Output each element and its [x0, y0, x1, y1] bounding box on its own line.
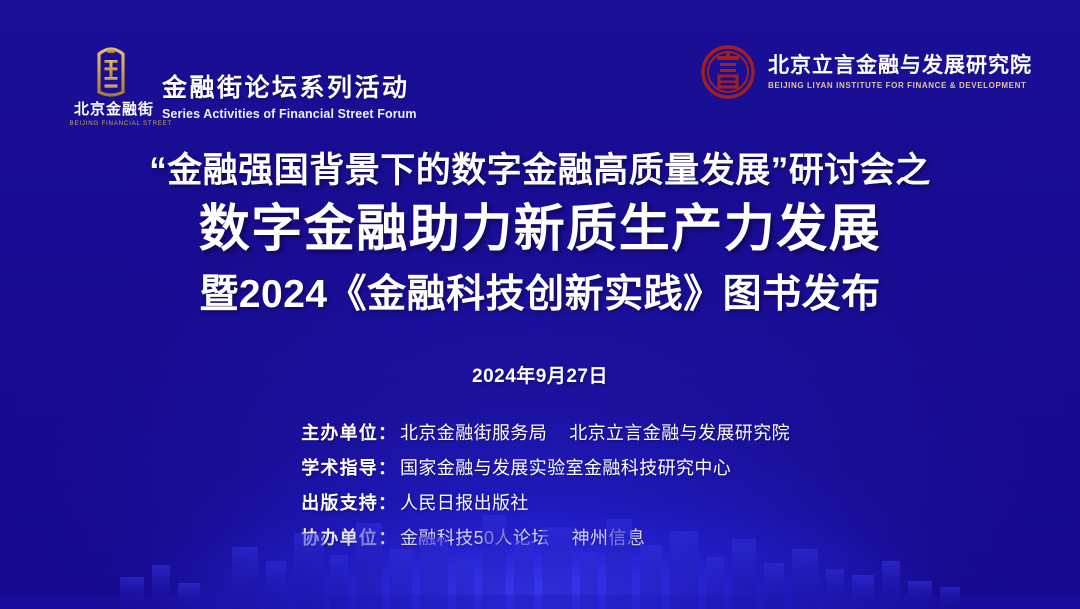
credit-entity: 人民日报出版社	[400, 493, 529, 513]
credit-colon: ：	[378, 454, 396, 480]
credit-label: 学术指导	[270, 454, 378, 480]
liyan-name-cn: 北京立言金融与发展研究院	[768, 53, 1032, 78]
event-poster: 北京金融街 BEIJING FINANCIAL STREET 金融街论坛系列活动…	[0, 0, 1080, 609]
title-line-1: “金融强国背景下的数字金融高质量发展”研讨会之	[0, 150, 1080, 191]
beijing-financial-street-gate-seal-icon	[85, 42, 137, 100]
credit-label: 出版支持	[270, 489, 378, 515]
poster-title-block: “金融强国背景下的数字金融高质量发展”研讨会之 数字金融助力新质生产力发展 暨2…	[0, 150, 1080, 318]
bfs-name-cn: 北京金融街	[74, 102, 148, 119]
poster-header: 北京金融街 BEIJING FINANCIAL STREET 金融街论坛系列活动…	[0, 0, 1080, 140]
forum-title-en: Series Activities of Financial Street Fo…	[162, 107, 417, 121]
credit-value: 国家金融与发展实验室金融科技研究中心	[396, 454, 810, 480]
title-line-2-main: 数字金融助力新质生产力发展	[0, 199, 1080, 261]
credit-label: 主办单位	[270, 419, 378, 445]
bfs-name-en: BEIJING FINANCIAL STREET	[70, 121, 153, 128]
credit-entity: 国家金融与发展实验室金融科技研究中心	[400, 458, 731, 478]
liyan-institute-round-seal-icon	[700, 44, 756, 100]
credit-row: 主办单位：北京金融街服务局北京立言金融与发展研究院	[270, 419, 810, 445]
credit-value: 北京金融街服务局北京立言金融与发展研究院	[396, 419, 810, 445]
credit-colon: ：	[378, 524, 396, 550]
credit-entity: 北京金融街服务局	[400, 423, 547, 443]
credit-value: 金融科技50人论坛神州信息	[396, 524, 810, 550]
beijing-financial-street-logo: 北京金融街 BEIJING FINANCIAL STREET	[74, 42, 148, 127]
credit-entity: 神州信息	[572, 528, 646, 548]
organizer-credits: 主办单位：北京金融街服务局北京立言金融与发展研究院学术指导：国家金融与发展实验室…	[0, 419, 1080, 550]
credit-value: 人民日报出版社	[396, 489, 810, 515]
credit-colon: ：	[378, 419, 396, 445]
liyan-name-block: 北京立言金融与发展研究院 BEIJING LIYAN INSTITUTE FOR…	[768, 53, 1032, 90]
event-date: 2024年9月27日	[0, 361, 1080, 388]
title-line-3-book-release: 暨2024《金融科技创新实践》图书发布	[0, 272, 1080, 319]
credit-colon: ：	[378, 489, 396, 515]
forum-title-block: 金融街论坛系列活动 Series Activities of Financial…	[162, 75, 417, 128]
credit-entity: 北京立言金融与发展研究院	[569, 423, 790, 443]
credit-entity: 金融科技50人论坛	[400, 528, 550, 548]
forum-title-cn: 金融街论坛系列活动	[162, 75, 417, 104]
credit-row: 协办单位：金融科技50人论坛神州信息	[270, 524, 810, 550]
financial-street-forum-logo: 北京金融街 BEIJING FINANCIAL STREET 金融街论坛系列活动…	[74, 42, 417, 127]
credit-row: 学术指导：国家金融与发展实验室金融科技研究中心	[270, 454, 810, 480]
credit-label: 协办单位	[270, 524, 378, 550]
credit-row: 出版支持：人民日报出版社	[270, 489, 810, 515]
liyan-institute-logo: 北京立言金融与发展研究院 BEIJING LIYAN INSTITUTE FOR…	[700, 44, 1032, 100]
liyan-name-en: BEIJING LIYAN INSTITUTE FOR FINANCE & DE…	[768, 81, 1032, 90]
